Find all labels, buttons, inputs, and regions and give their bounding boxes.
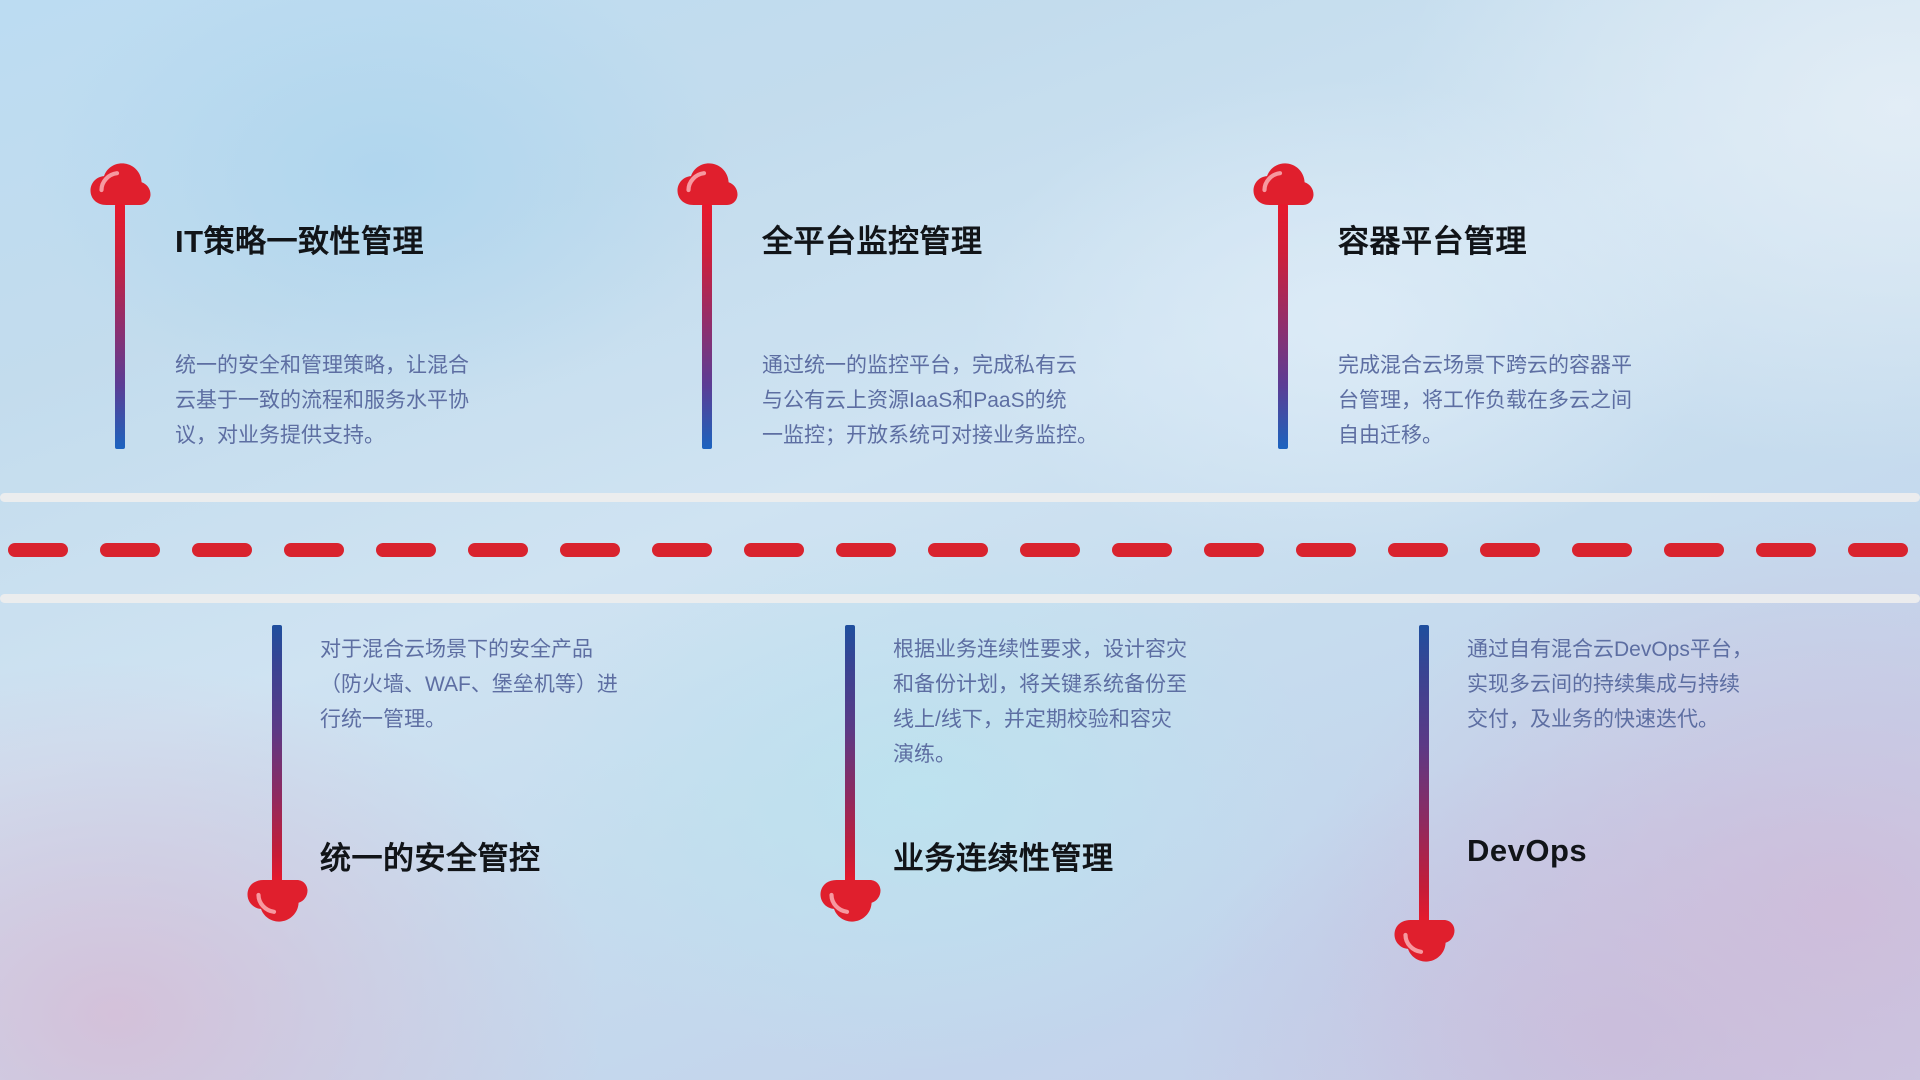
divider-line-top <box>0 493 1920 502</box>
dash-segment <box>284 543 344 557</box>
dash-segment <box>1756 543 1816 557</box>
bottom-bar-1 <box>272 625 282 883</box>
bottom-description-2: 根据业务连续性要求，设计容灾 和备份计划，将关键系统备份至 线上/线下，并定期校… <box>893 632 1293 772</box>
description-line: 台管理，将工作负载在多云之间 <box>1338 383 1738 418</box>
dashed-separator <box>0 543 1920 557</box>
bottom-title-2: 业务连续性管理 <box>893 833 1114 878</box>
infographic-canvas: IT策略一致性管理 统一的安全和管理策略，让混合 云基于一致的流程和服务水平协 … <box>0 0 1920 1080</box>
bottom-bar-2 <box>845 625 855 883</box>
description-line: （防火墙、WAF、堡垒机等）进 <box>320 667 720 702</box>
dash-segment <box>192 543 252 557</box>
dash-segment <box>928 543 988 557</box>
dash-segment <box>836 543 896 557</box>
description-line: 通过统一的监控平台，完成私有云 <box>762 348 1162 383</box>
top-bar-3 <box>1278 204 1288 449</box>
description-line: 交付，及业务的快速迭代。 <box>1467 702 1867 737</box>
description-line: 实现多云间的持续集成与持续 <box>1467 667 1867 702</box>
description-line: 线上/线下，并定期校验和容灾 <box>893 702 1293 737</box>
description-line: 与公有云上资源IaaS和PaaS的统 <box>762 383 1162 418</box>
dash-segment <box>1296 543 1356 557</box>
divider-line-bottom <box>0 594 1920 603</box>
description-line: 根据业务连续性要求，设计容灾 <box>893 632 1293 667</box>
cloud-icon <box>675 160 739 208</box>
dash-segment <box>1848 543 1908 557</box>
description-line: 自由迁移。 <box>1338 418 1738 453</box>
cloud-icon <box>818 877 882 925</box>
description-line: 演练。 <box>893 737 1293 772</box>
dash-segment <box>1388 543 1448 557</box>
dash-segment <box>1572 543 1632 557</box>
dash-segment <box>1020 543 1080 557</box>
dash-segment <box>376 543 436 557</box>
dash-segment <box>1112 543 1172 557</box>
top-title-1: IT策略一致性管理 <box>175 216 424 261</box>
description-line: 一监控；开放系统可对接业务监控。 <box>762 418 1162 453</box>
description-line: 对于混合云场景下的安全产品 <box>320 632 720 667</box>
top-title-2: 全平台监控管理 <box>762 216 983 261</box>
description-line: 议，对业务提供支持。 <box>175 418 575 453</box>
dash-segment <box>1664 543 1724 557</box>
cloud-icon <box>88 160 152 208</box>
top-description-2: 通过统一的监控平台，完成私有云 与公有云上资源IaaS和PaaS的统 一监控；开… <box>762 348 1162 453</box>
dash-segment <box>468 543 528 557</box>
cloud-icon <box>245 877 309 925</box>
bottom-description-1: 对于混合云场景下的安全产品 （防火墙、WAF、堡垒机等）进 行统一管理。 <box>320 632 720 737</box>
top-bar-2 <box>702 204 712 449</box>
bottom-description-3: 通过自有混合云DevOps平台， 实现多云间的持续集成与持续 交付，及业务的快速… <box>1467 632 1867 737</box>
dash-segment <box>560 543 620 557</box>
dash-segment <box>1480 543 1540 557</box>
description-line: 通过自有混合云DevOps平台， <box>1467 632 1867 667</box>
top-title-3: 容器平台管理 <box>1338 216 1527 261</box>
dash-segment <box>1204 543 1264 557</box>
bottom-bar-3 <box>1419 625 1429 923</box>
bottom-title-1: 统一的安全管控 <box>320 833 541 878</box>
dash-segment <box>652 543 712 557</box>
description-line: 和备份计划，将关键系统备份至 <box>893 667 1293 702</box>
description-line: 完成混合云场景下跨云的容器平 <box>1338 348 1738 383</box>
dash-segment <box>8 543 68 557</box>
bottom-title-3: DevOps <box>1467 833 1587 869</box>
top-description-3: 完成混合云场景下跨云的容器平 台管理，将工作负载在多云之间 自由迁移。 <box>1338 348 1738 453</box>
description-line: 统一的安全和管理策略，让混合 <box>175 348 575 383</box>
cloud-icon <box>1392 917 1456 965</box>
description-line: 行统一管理。 <box>320 702 720 737</box>
cloud-icon <box>1251 160 1315 208</box>
top-description-1: 统一的安全和管理策略，让混合 云基于一致的流程和服务水平协 议，对业务提供支持。 <box>175 348 575 453</box>
dash-segment <box>744 543 804 557</box>
top-bar-1 <box>115 204 125 449</box>
description-line: 云基于一致的流程和服务水平协 <box>175 383 575 418</box>
dash-segment <box>100 543 160 557</box>
